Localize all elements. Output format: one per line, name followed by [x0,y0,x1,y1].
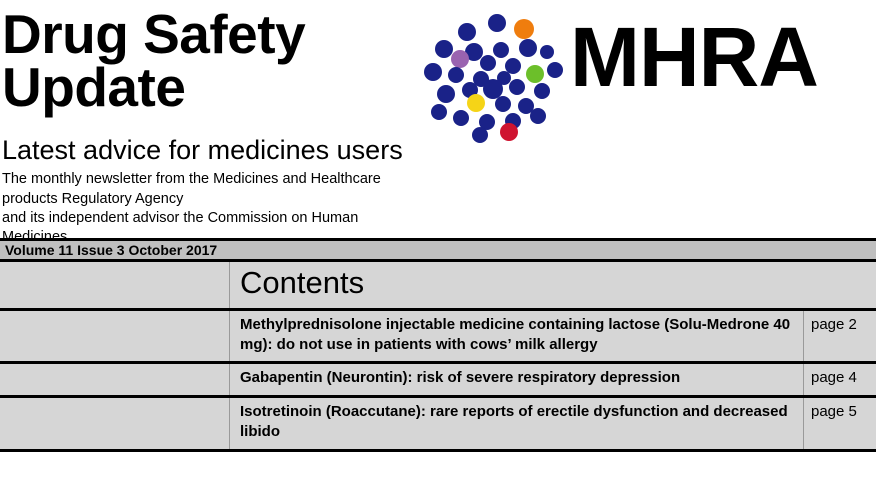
logo-dot [451,50,469,68]
page-title: Drug Safety Update [0,0,420,115]
logo-dot [500,123,518,141]
title-block: Drug Safety Update Latest advice for med… [0,0,420,248]
logo-dot [488,14,506,32]
contents-header-row: Contents [0,262,876,311]
entry-spacer-cell [0,398,230,449]
logo-dot [480,55,496,71]
entry-title-cell: Methylprednisolone injectable medicine c… [230,311,803,362]
logo-dot [493,42,509,58]
entry-title[interactable]: Methylprednisolone injectable medicine c… [240,315,793,355]
table-row[interactable]: Gabapentin (Neurontin): risk of severe r… [0,364,876,398]
logo-dot [453,110,469,126]
logo-dot [509,79,525,95]
mhra-dot-pattern-icon [425,8,565,143]
entry-title-cell: Gabapentin (Neurontin): risk of severe r… [230,364,803,395]
table-row[interactable]: Methylprednisolone injectable medicine c… [0,311,876,365]
logo-dot [495,96,511,112]
logo-dot [431,104,447,120]
entry-page-number: page 4 [803,364,876,395]
mhra-wordmark: MHRA [570,15,818,99]
logo-dot [467,94,485,112]
logo-dot [437,85,455,103]
volume-issue-label: Volume 11 Issue 3 October 2017 [0,241,876,259]
logo-dot [540,45,554,59]
entry-title[interactable]: Isotretinoin (Roaccutane): rare reports … [240,402,793,442]
volume-bar: Volume 11 Issue 3 October 2017 [0,238,876,262]
entry-title[interactable]: Gabapentin (Neurontin): risk of severe r… [240,368,793,388]
entry-page-number: page 5 [803,398,876,449]
logo-dot [448,67,464,83]
logo-dot [526,65,544,83]
masthead: Drug Safety Update Latest advice for med… [0,0,876,238]
logo-dot [534,83,550,99]
logo-dot [530,108,546,124]
contents-table: Contents Methylprednisolone injectable m… [0,262,876,452]
logo-dot [435,40,453,58]
logo-dot [458,23,476,41]
logo-dot [424,63,442,81]
contents-header-main-cell: Contents [230,262,876,308]
strapline: Latest advice for medicines users [0,115,420,166]
contents-entry-list: Methylprednisolone injectable medicine c… [0,311,876,453]
contents-header-spacer-cell [0,262,230,308]
table-row[interactable]: Isotretinoin (Roaccutane): rare reports … [0,398,876,452]
sub-strapline: The monthly newsletter from the Medicine… [0,165,420,247]
logo-dot [514,19,534,39]
entry-page-number: page 2 [803,311,876,362]
entry-spacer-cell [0,311,230,362]
logo-dot [472,127,488,143]
entry-spacer-cell [0,364,230,395]
contents-heading: Contents [240,265,866,302]
mhra-logo: MHRA [425,8,875,143]
logo-dot [519,39,537,57]
logo-dot [547,62,563,78]
entry-title-cell: Isotretinoin (Roaccutane): rare reports … [230,398,803,449]
